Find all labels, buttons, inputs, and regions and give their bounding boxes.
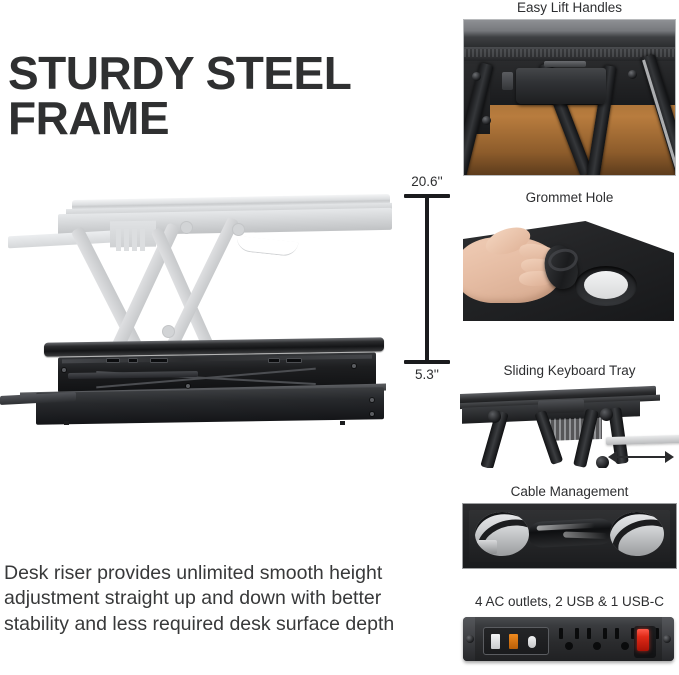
ghost-gas-spring-cable — [235, 236, 298, 257]
keyboard-tray — [606, 435, 679, 445]
power-strip — [463, 617, 674, 661]
arrow-shaft — [614, 456, 668, 458]
headline-line-2: FRAME — [8, 96, 438, 141]
pivot — [488, 410, 501, 423]
screw — [352, 364, 356, 368]
usb-a-fast-charge-port — [509, 634, 518, 649]
screw — [186, 384, 190, 388]
cable-plug — [477, 540, 497, 554]
ghost-pivot — [162, 325, 175, 338]
height-dimension-ruler: 20.6'' 5.3'' — [396, 174, 458, 389]
cable-highlight — [537, 523, 595, 531]
grommet-hole-interior — [584, 271, 628, 299]
outlet-ground-pin — [593, 642, 601, 650]
photo-sliding-keyboard-tray — [460, 382, 679, 468]
feature-panels-column: Easy Lift Handles Gr — [460, 0, 679, 675]
frame-port — [268, 358, 280, 363]
screw — [370, 412, 374, 416]
panel-title-grommet-hole: Grommet Hole — [460, 190, 679, 206]
panel-title-power-strip: 4 AC outlets, 2 USB & 1 USB-C — [460, 594, 679, 610]
mounting-screw-left — [466, 635, 474, 643]
ac-outlet — [583, 627, 611, 653]
frame-port — [150, 358, 168, 363]
ghost-slat — [140, 229, 145, 251]
ruler-bottom-cap — [404, 360, 450, 364]
ruler-stem — [425, 196, 429, 362]
ghost-slat — [124, 229, 129, 251]
outlet-ground-pin — [621, 642, 629, 650]
headline-line-1: STURDY STEEL — [8, 47, 351, 99]
photo-easy-lift-handles — [463, 19, 676, 176]
bolt — [482, 116, 491, 125]
outlet-slot — [575, 628, 579, 639]
frame-port — [128, 358, 138, 363]
outlet-ground-pin — [565, 642, 573, 650]
base-foot — [340, 421, 345, 425]
lift-handle-bar — [544, 61, 586, 67]
usb-a-port — [491, 634, 500, 649]
min-height-label: 5.3'' — [396, 367, 458, 382]
ghost-pivot — [232, 223, 245, 236]
screw — [62, 368, 66, 372]
product-infographic: STURDY STEEL FRAME — [0, 0, 679, 675]
outlet-slot — [559, 628, 563, 639]
panel-title-sliding-keyboard-tray: Sliding Keyboard Tray — [460, 363, 679, 379]
deck-texture — [464, 49, 675, 57]
description-text: Desk riser provides unlimited smooth hei… — [4, 561, 404, 639]
slide-direction-arrow-icon — [608, 450, 674, 464]
ac-outlet — [555, 627, 583, 653]
feature-panel-cable-management: Cable Management — [460, 484, 679, 569]
cable-highlight — [563, 531, 607, 539]
page-title: STURDY STEEL FRAME — [8, 51, 438, 141]
power-switch[interactable] — [634, 626, 656, 658]
photo-power-strip — [463, 613, 674, 661]
cable-hole-right — [610, 512, 664, 556]
feature-panel-sliding-keyboard-tray: Sliding Keyboard Tray — [460, 363, 679, 468]
feature-panel-power-strip: 4 AC outlets, 2 USB & 1 USB-C — [460, 594, 679, 661]
photo-grommet-hole — [463, 209, 674, 321]
cable-hole-left — [475, 512, 529, 556]
feature-panel-grommet-hole: Grommet Hole — [460, 190, 679, 321]
feature-panel-easy-lift-handles: Easy Lift Handles — [460, 0, 679, 176]
outlet-slot — [615, 628, 619, 639]
lift-handle — [516, 68, 606, 104]
frame-port — [106, 358, 120, 363]
usb-port-bay — [483, 627, 549, 655]
usb-c-port — [528, 636, 536, 648]
panel-title-easy-lift-handles: Easy Lift Handles — [460, 0, 679, 16]
panel-title-cable-management: Cable Management — [460, 484, 679, 500]
pivot — [600, 408, 613, 421]
outlet-slot — [587, 628, 591, 639]
left-column: STURDY STEEL FRAME — [0, 0, 460, 675]
ghost-pivot — [180, 221, 193, 234]
base-frame — [36, 387, 384, 424]
frame-port — [286, 358, 302, 363]
outlet-slot — [603, 628, 607, 639]
bolt — [472, 72, 481, 81]
base-foot — [64, 421, 69, 425]
ghost-slat — [116, 229, 121, 251]
arrow-head-right — [665, 451, 674, 463]
riser-collapsed-solid — [0, 340, 400, 445]
photo-cable-management — [462, 503, 677, 569]
ghost-slat — [132, 229, 137, 251]
mounting-screw-right — [663, 635, 671, 643]
desk-riser-illustration — [0, 185, 400, 445]
max-height-label: 20.6'' — [396, 174, 458, 189]
power-switch-rocker[interactable] — [637, 629, 649, 651]
lift-handle-tab — [502, 72, 513, 90]
bolt — [628, 70, 637, 79]
center-cable-bundle — [528, 518, 613, 548]
screw — [370, 398, 374, 402]
